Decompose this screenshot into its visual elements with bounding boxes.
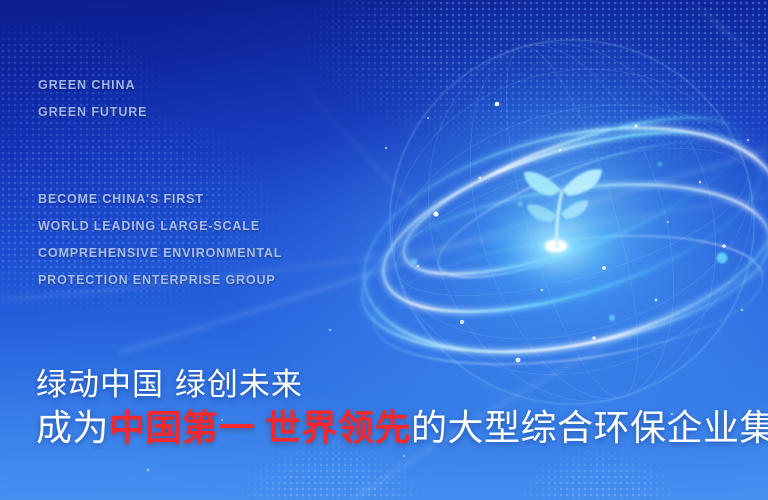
sprout-icon [524,169,602,248]
tagline-text-block: BECOME CHINA'S FIRST WORLD LEADING LARGE… [38,186,282,294]
headline-block: 绿动中国 绿创未来 成为中国第一世界领先的大型综合环保企业集团 [36,364,768,452]
eyebrow-line-2: GREEN FUTURE [38,99,147,126]
headline-suffix: 的大型综合环保企业集团 [411,408,768,449]
tagline-line-3: COMPREHENSIVE ENVIRONMENTAL [38,240,282,267]
tagline-line-1: BECOME CHINA'S FIRST [38,186,282,213]
headline-highlight-leading: 世界领先 [265,408,411,449]
eyebrow-line-1: GREEN CHINA [38,72,147,99]
headline-highlight-first: 中国第一 [109,408,255,449]
headline-prefix: 成为 [36,408,109,449]
tagline-line-2: WORLD LEADING LARGE-SCALE [38,213,282,240]
headline-line-1: 绿动中国 绿创未来 [36,364,768,406]
hero-banner: GREEN CHINA GREEN FUTURE BECOME CHINA'S … [0,0,768,500]
eyebrow-text-block: GREEN CHINA GREEN FUTURE [38,72,147,126]
tagline-line-4: PROTECTION ENTERPRISE GROUP [38,267,282,294]
headline-line-2: 成为中国第一世界领先的大型综合环保企业集团 [36,406,768,452]
